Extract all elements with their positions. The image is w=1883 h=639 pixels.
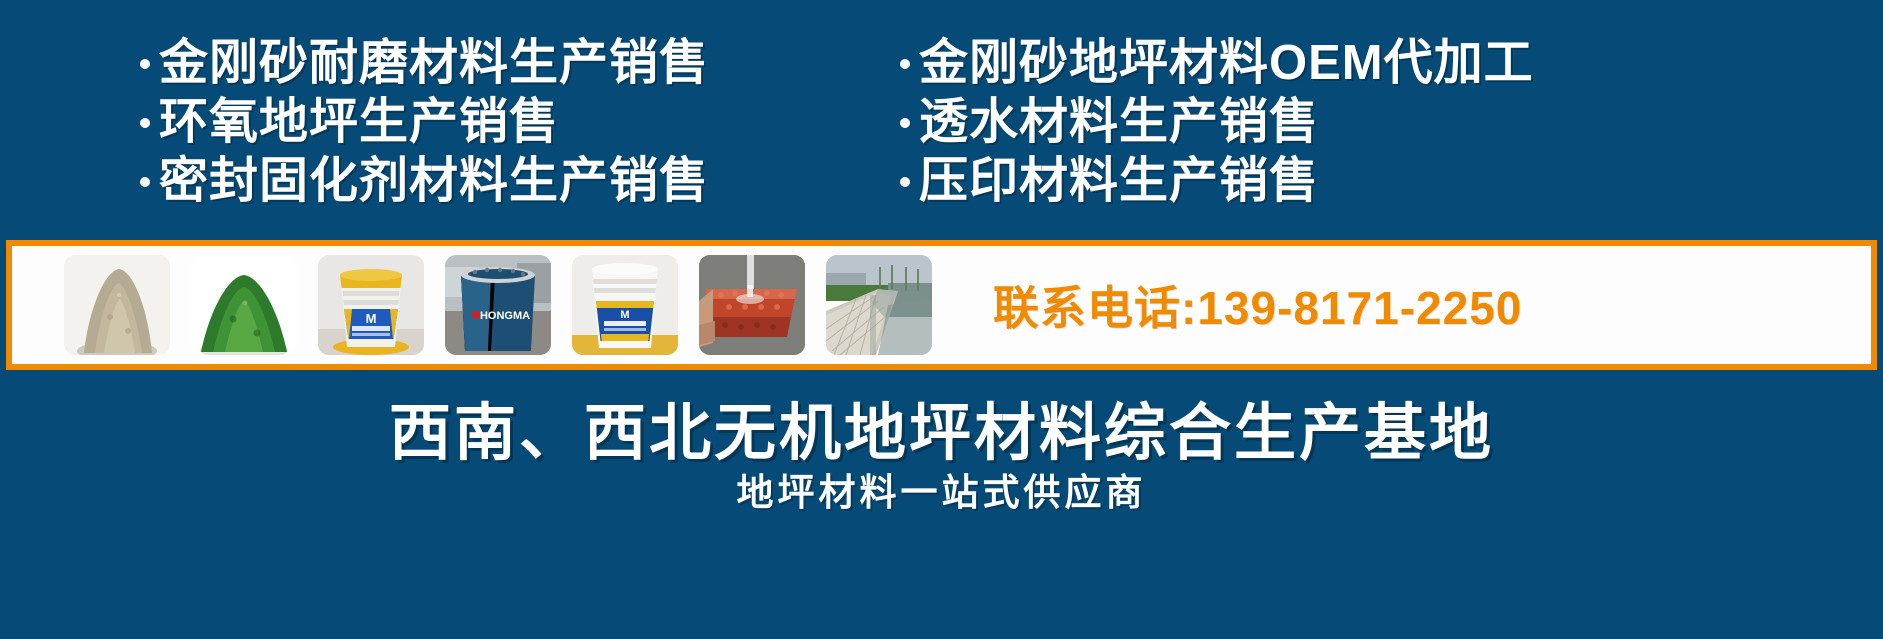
product-thumbnail-sealer-bucket: M xyxy=(318,255,424,355)
banner-headline: 西南、西北无机地坪材料综合生产基地 xyxy=(0,382,1883,472)
feature-item: 密封固化剂材料生产销售 xyxy=(140,152,880,211)
banner-subline: 地坪材料一站式供应商 xyxy=(0,462,1883,516)
feature-item: 金刚砂耐磨材料生产销售 xyxy=(140,34,880,93)
bullet-icon xyxy=(140,59,150,69)
feature-item-label: 密封固化剂材料生产销售 xyxy=(159,152,709,211)
feature-item-label: 环氧地坪生产销售 xyxy=(159,93,559,152)
feature-list: 金刚砂耐磨材料生产销售 环氧地坪生产销售 密封固化剂材料生产销售 金刚砂地坪材料… xyxy=(0,34,1883,224)
feature-item: 压印材料生产销售 xyxy=(900,152,1883,211)
bullet-icon xyxy=(140,177,150,187)
feature-item-label: 压印材料生产销售 xyxy=(919,152,1319,211)
product-thumbnail-green-powder xyxy=(191,255,297,355)
feature-item-label: 金刚砂地坪材料OEM代加工 xyxy=(919,34,1534,93)
feature-item: 金刚砂地坪材料OEM代加工 xyxy=(900,34,1883,93)
product-thumbnail-stamped-walkway xyxy=(826,255,932,355)
feature-item-label: 透水材料生产销售 xyxy=(919,93,1319,152)
product-thumbnail-grey-powder xyxy=(64,255,170,355)
feature-item-label: 金刚砂耐磨材料生产销售 xyxy=(159,34,709,93)
bullet-icon xyxy=(140,118,150,128)
bullet-icon xyxy=(900,118,910,128)
svg-text:M: M xyxy=(366,311,377,326)
bullet-icon xyxy=(900,59,910,69)
contact-phone[interactable]: 联系电话:139-8171-2250 xyxy=(993,272,1522,338)
feature-item: 环氧地坪生产销售 xyxy=(140,93,880,152)
svg-text:M: M xyxy=(620,309,629,321)
bullet-icon xyxy=(900,177,910,187)
product-thumbnail-hongma-drum: HONGMA xyxy=(445,255,551,355)
product-thumbnail-permeable-concrete xyxy=(699,255,805,355)
promotional-banner: 金刚砂耐磨材料生产销售 环氧地坪生产销售 密封固化剂材料生产销售 金刚砂地坪材料… xyxy=(0,0,1883,639)
feature-column-right: 金刚砂地坪材料OEM代加工 透水材料生产销售 压印材料生产销售 xyxy=(880,34,1883,224)
feature-item: 透水材料生产销售 xyxy=(900,93,1883,152)
feature-column-left: 金刚砂耐磨材料生产销售 环氧地坪生产销售 密封固化剂材料生产销售 xyxy=(0,34,880,224)
svg-text:HONGMA: HONGMA xyxy=(480,310,530,322)
product-strip: M HONGMA xyxy=(6,240,1877,370)
product-thumbnail-epoxy-bucket: M xyxy=(572,255,678,355)
